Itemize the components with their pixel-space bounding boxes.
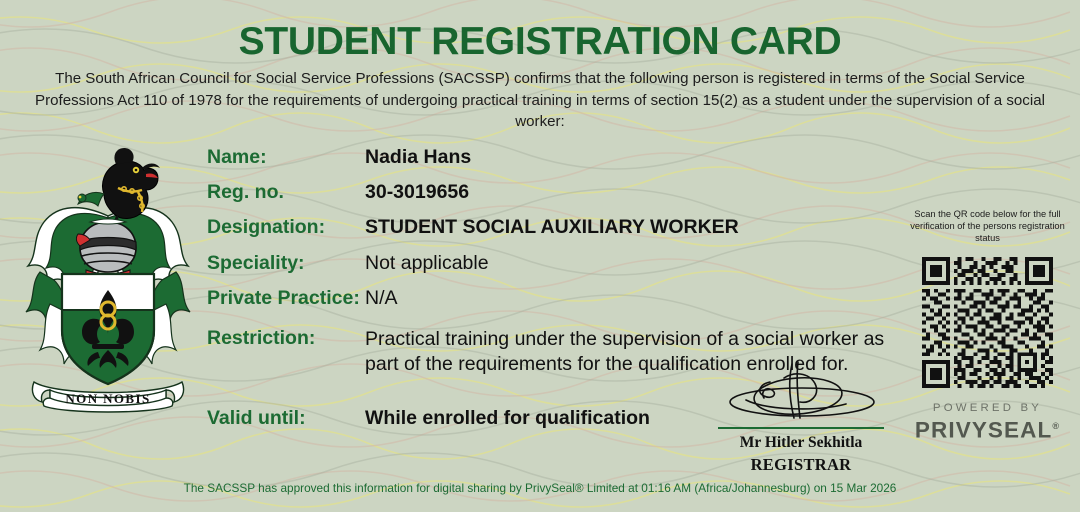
signature-line bbox=[718, 427, 884, 429]
motto-text: NON NOBIS bbox=[65, 391, 150, 406]
qr-instruction-text: Scan the QR code below for the full veri… bbox=[905, 208, 1070, 245]
registrar-name: Mr Hitler Sekhitla bbox=[706, 434, 896, 452]
field-value: Not applicable bbox=[365, 252, 489, 275]
field-value: Nadia Hans bbox=[365, 146, 471, 169]
field-value: While enrolled for qualification bbox=[365, 407, 650, 430]
privyseal-logo: PRIVYSEAL® bbox=[905, 414, 1070, 443]
field-label: Speciality: bbox=[207, 252, 305, 275]
field-value: N/A bbox=[365, 287, 398, 310]
field-label: Name: bbox=[207, 146, 267, 169]
field-label: Valid until: bbox=[207, 407, 306, 430]
signature-block: Mr Hitler Sekhitla REGISTRAR bbox=[706, 360, 896, 475]
field-value: 30-3019656 bbox=[365, 181, 469, 204]
field-label: Restriction: bbox=[207, 327, 315, 350]
coat-of-arms-emblem: NON NOBIS bbox=[20, 144, 196, 416]
field-value: STUDENT SOCIAL AUXILIARY WORKER bbox=[365, 216, 739, 239]
field-label: Private Practice: bbox=[207, 287, 360, 310]
privyseal-wordmark: PRIVYSEAL bbox=[915, 417, 1052, 442]
handwritten-signature bbox=[706, 360, 896, 422]
page-title: STUDENT REGISTRATION CARD bbox=[0, 20, 1080, 64]
qr-verification-panel: Scan the QR code below for the full veri… bbox=[905, 208, 1070, 442]
registrar-role: REGISTRAR bbox=[706, 455, 896, 475]
approval-footer: The SACSSP has approved this information… bbox=[0, 481, 1080, 495]
intro-paragraph: The South African Council for Social Ser… bbox=[30, 68, 1050, 133]
field-label: Reg. no. bbox=[207, 181, 284, 204]
student-registration-card: STUDENT REGISTRATION CARD The South Afri… bbox=[0, 0, 1080, 512]
powered-by-label: POWERED BY bbox=[905, 402, 1070, 414]
registered-mark: ® bbox=[1052, 421, 1060, 431]
qr-code[interactable] bbox=[922, 257, 1053, 388]
field-label: Designation: bbox=[207, 216, 325, 239]
